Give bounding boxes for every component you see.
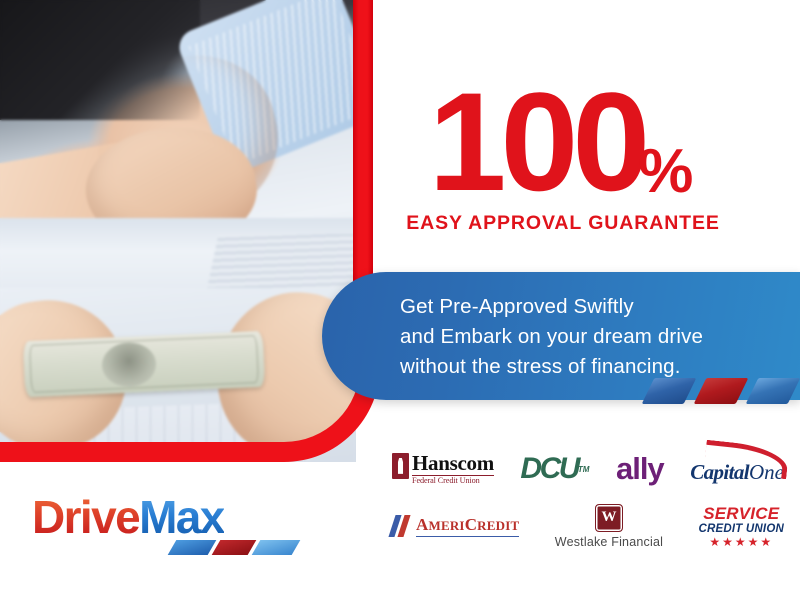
americredit-slash-icon bbox=[392, 515, 412, 537]
logo-swoosh-segment-2 bbox=[212, 540, 257, 555]
lender-dcu[interactable]: DCUTM bbox=[520, 452, 589, 486]
handshake-laptop bbox=[205, 234, 356, 296]
service-cu-line2: CREDIT UNION bbox=[699, 522, 784, 536]
lender-capital-one[interactable]: CapitalOne bbox=[690, 454, 784, 485]
americredit-c: C bbox=[465, 515, 477, 534]
ally-wordmark: ally bbox=[616, 451, 664, 487]
americredit-redit: REDIT bbox=[477, 518, 519, 533]
lender-service-credit-union[interactable]: SERVICE CREDIT UNION ★★★★★ bbox=[699, 505, 784, 548]
headline-subtext: EASY APPROVAL GUARANTEE bbox=[398, 212, 728, 235]
westlake-mark-letter: W bbox=[601, 509, 616, 526]
drivemax-wordmark: DriveMax bbox=[32, 492, 296, 542]
headline-percent-symbol: % bbox=[638, 137, 691, 206]
lender-westlake-financial[interactable]: W Westlake Financial bbox=[555, 504, 663, 549]
americredit-meri: MERI bbox=[428, 518, 464, 533]
hanscom-tagline: Federal Credit Union bbox=[412, 475, 494, 485]
service-cu-line1: SERVICE bbox=[703, 505, 779, 522]
dcu-wordmark: DCU bbox=[520, 452, 578, 486]
hanscom-name: Hanscom bbox=[412, 453, 494, 474]
lender-hanscom[interactable]: Hanscom Federal Credit Union bbox=[392, 453, 494, 485]
dcu-trademark: TM bbox=[578, 465, 590, 474]
logo-swoosh-segment-3 bbox=[252, 540, 301, 555]
promo-banner: 100% EASY APPROVAL GUARANTEE Get Pre-App… bbox=[0, 0, 800, 600]
service-cu-stars-icon: ★★★★★ bbox=[709, 536, 773, 548]
lender-ally[interactable]: ally bbox=[616, 451, 664, 487]
chevron-arrows-decoration bbox=[648, 378, 800, 404]
logo-swoosh-segment-1 bbox=[168, 540, 217, 555]
chevron-arrow-icon-2 bbox=[694, 378, 749, 404]
logo-text-drive: Drive bbox=[32, 491, 139, 543]
westlake-w-icon: W bbox=[595, 504, 623, 532]
westlake-wordmark: Westlake Financial bbox=[555, 535, 663, 549]
americredit-wordmark: AMERICREDIT bbox=[416, 515, 519, 537]
americredit-a: A bbox=[416, 515, 428, 534]
logo-swoosh-icon bbox=[172, 540, 296, 555]
hanscom-text: Hanscom Federal Credit Union bbox=[412, 453, 494, 485]
chevron-arrow-icon-3 bbox=[746, 378, 800, 404]
chevron-arrow-icon-1 bbox=[642, 378, 697, 404]
headline-number: 100% bbox=[429, 76, 698, 208]
lender-logos: Hanscom Federal Credit Union DCUTM ally … bbox=[386, 444, 790, 562]
lender-americredit[interactable]: AMERICREDIT bbox=[392, 515, 519, 537]
headline-number-value: 100 bbox=[429, 63, 645, 220]
lender-row-2: AMERICREDIT W Westlake Financial SERVICE… bbox=[386, 498, 790, 554]
hanscom-shield-icon bbox=[392, 453, 409, 479]
message-text: Get Pre-Approved Swiftly and Embark on y… bbox=[400, 292, 703, 382]
handshake-photo bbox=[0, 0, 356, 300]
headline-block: 100% EASY APPROVAL GUARANTEE bbox=[398, 76, 728, 256]
drivemax-logo[interactable]: DriveMax bbox=[32, 492, 296, 554]
lender-row-1: Hanscom Federal Credit Union DCUTM ally … bbox=[386, 444, 790, 494]
red-bottom-bar bbox=[0, 442, 270, 462]
logo-text-max: Max bbox=[139, 491, 224, 543]
